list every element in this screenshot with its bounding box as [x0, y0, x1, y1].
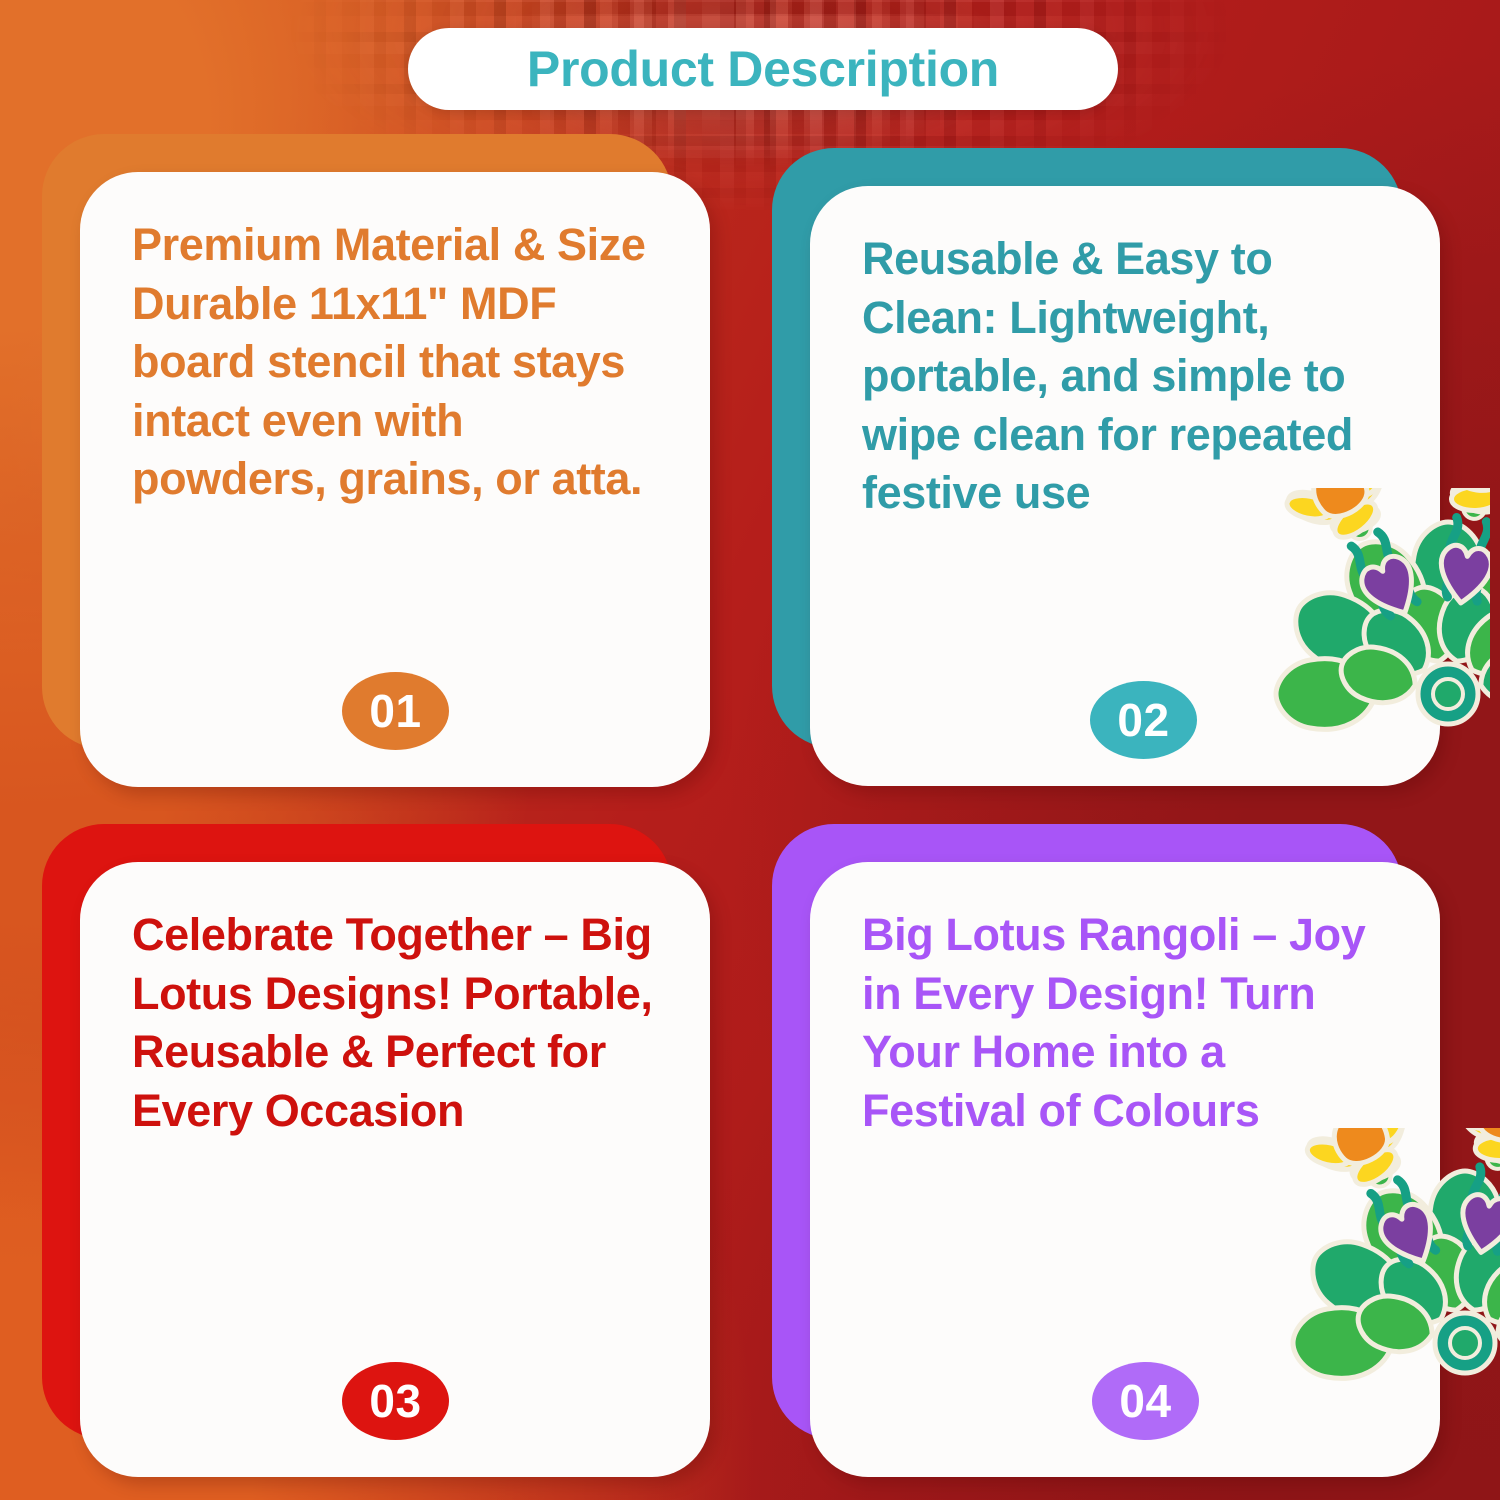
card-01-surface: Premium Material & Size Durable 11x11" M… [80, 172, 710, 787]
card-02-text: Reusable & Easy to Clean: Lightweight, p… [862, 230, 1398, 523]
card-04-surface: Big Lotus Rangoli – Joy in Every Design!… [810, 862, 1440, 1477]
card-03-text: Celebrate Together – Big Lotus Designs! … [132, 906, 668, 1140]
feature-card-02[interactable]: Reusable & Easy to Clean: Lightweight, p… [772, 148, 1402, 748]
card-02-surface: Reusable & Easy to Clean: Lightweight, p… [810, 186, 1440, 786]
feature-card-04[interactable]: Big Lotus Rangoli – Joy in Every Design!… [772, 824, 1402, 1439]
card-03-surface: Celebrate Together – Big Lotus Designs! … [80, 862, 710, 1477]
page-title: Product Description [527, 44, 999, 94]
card-04-text: Big Lotus Rangoli – Joy in Every Design!… [862, 906, 1398, 1140]
card-01-number-badge: 01 [342, 672, 449, 750]
feature-card-01[interactable]: Premium Material & Size Durable 11x11" M… [42, 134, 672, 749]
feature-card-03[interactable]: Celebrate Together – Big Lotus Designs! … [42, 824, 672, 1439]
card-04-number-badge: 04 [1092, 1362, 1199, 1440]
card-03-number-badge: 03 [342, 1362, 449, 1440]
card-01-text: Premium Material & Size Durable 11x11" M… [132, 216, 668, 509]
infographic-canvas: Product Description Premium Material & S… [0, 0, 1500, 1500]
page-title-pill: Product Description [408, 28, 1118, 110]
card-02-number-badge: 02 [1090, 681, 1197, 759]
